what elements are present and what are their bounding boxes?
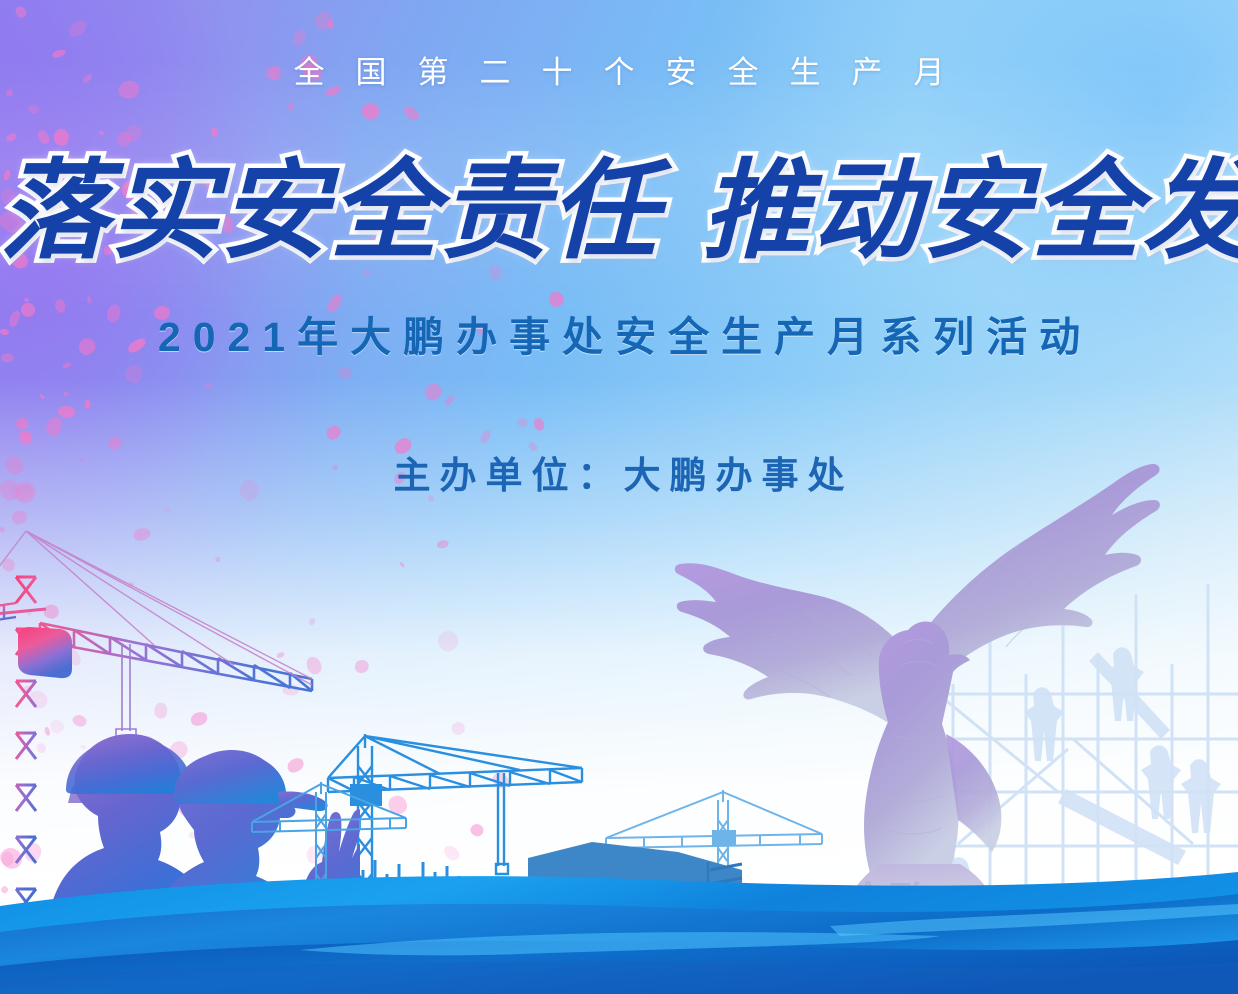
kicker-text: 全国第二十个安全生产月: [0, 47, 1238, 92]
main-title-line2: 推动安全发展: [702, 148, 1238, 274]
main-title: 落实安全责任推动安全发展: [0, 152, 1238, 270]
main-title-line1: 落实安全责任: [0, 148, 660, 274]
organizer-text: 主办单位：大鹏办事处: [0, 445, 1238, 499]
poster-canvas: 大鹏 振翅高翔: [0, 0, 1238, 994]
subtitle-text: 2021年大鹏办事处安全生产月系列活动: [0, 303, 1238, 363]
